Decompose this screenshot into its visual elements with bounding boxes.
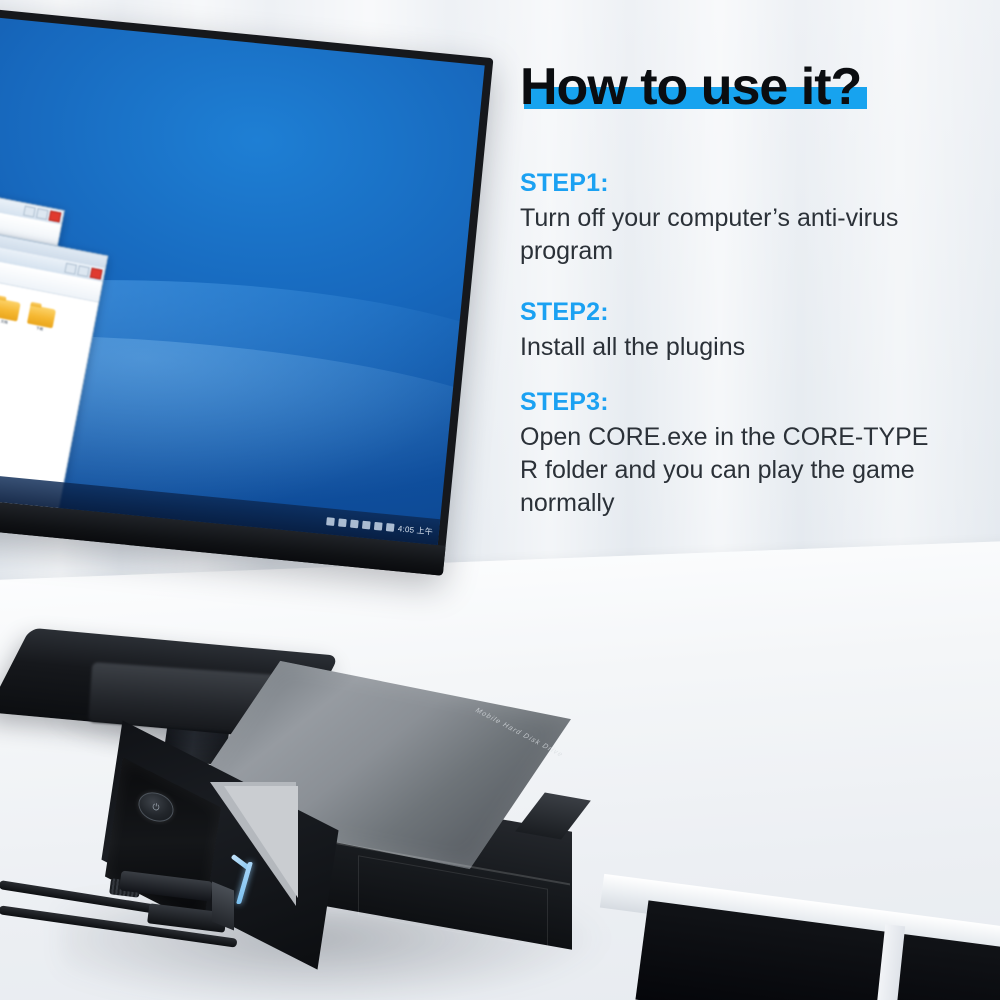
tray-icon-3[interactable] [350,520,359,529]
window-titlebar-back[interactable] [0,144,64,225]
maximize-icon[interactable] [77,265,90,277]
step-2: STEP2: Install all the plugins [520,298,970,364]
close-icon[interactable] [49,211,62,223]
step-2-text: Install all the plugins [520,331,940,364]
step-3-label: STEP3: [520,388,970,417]
hdd-port-area [212,882,234,931]
external-hdd-enclosure: ⏻ Mobile Hard Disk Drive [90,690,610,960]
step-3: STEP3: Open CORE.exe in the CORE-TYPE R … [520,388,970,520]
folder-icon [0,298,21,322]
computer-monitor: 创建 更改视图 分割 搜索 [0,0,493,576]
maximize-icon[interactable] [36,208,49,220]
volume-icon[interactable] [386,523,395,532]
hdd-rear-edge [515,793,591,840]
close-icon[interactable] [90,268,103,280]
desktop-windows: 创建 更改视图 分割 搜索 [0,0,485,545]
list-item[interactable]: 下载 [24,304,58,334]
product-infographic: 创建 更改视图 分割 搜索 [0,0,1000,1000]
step-3-text: Open CORE.exe in the CORE-TYPE R folder … [520,421,940,520]
list-item[interactable]: 文档 [0,298,23,328]
system-tray[interactable]: 4:05 上午 [326,516,434,537]
page-title: How to use it? [520,60,861,115]
step-2-label: STEP2: [520,298,970,327]
page-title-wrap: How to use it? [520,60,861,115]
step-1: STEP1: Turn off your computer’s anti-vir… [520,169,970,268]
power-icon: ⏻ [152,802,160,813]
tray-icon-1[interactable] [326,517,335,526]
step-1-text: Turn off your computer’s anti-virus prog… [520,202,940,268]
tray-icon-4[interactable] [362,521,371,530]
tray-icon-2[interactable] [338,518,347,527]
minimize-icon[interactable] [64,263,77,275]
hdd-facet-light [224,786,298,898]
monitor-screen: 创建 更改视图 分割 搜索 [0,0,485,545]
network-icon[interactable] [374,522,383,531]
step-1-label: STEP1: [520,169,970,198]
taskbar-clock[interactable]: 4:05 上午 [397,523,433,537]
instructions-panel: How to use it? STEP1: Turn off your comp… [520,60,970,520]
minimize-icon[interactable] [23,206,36,218]
